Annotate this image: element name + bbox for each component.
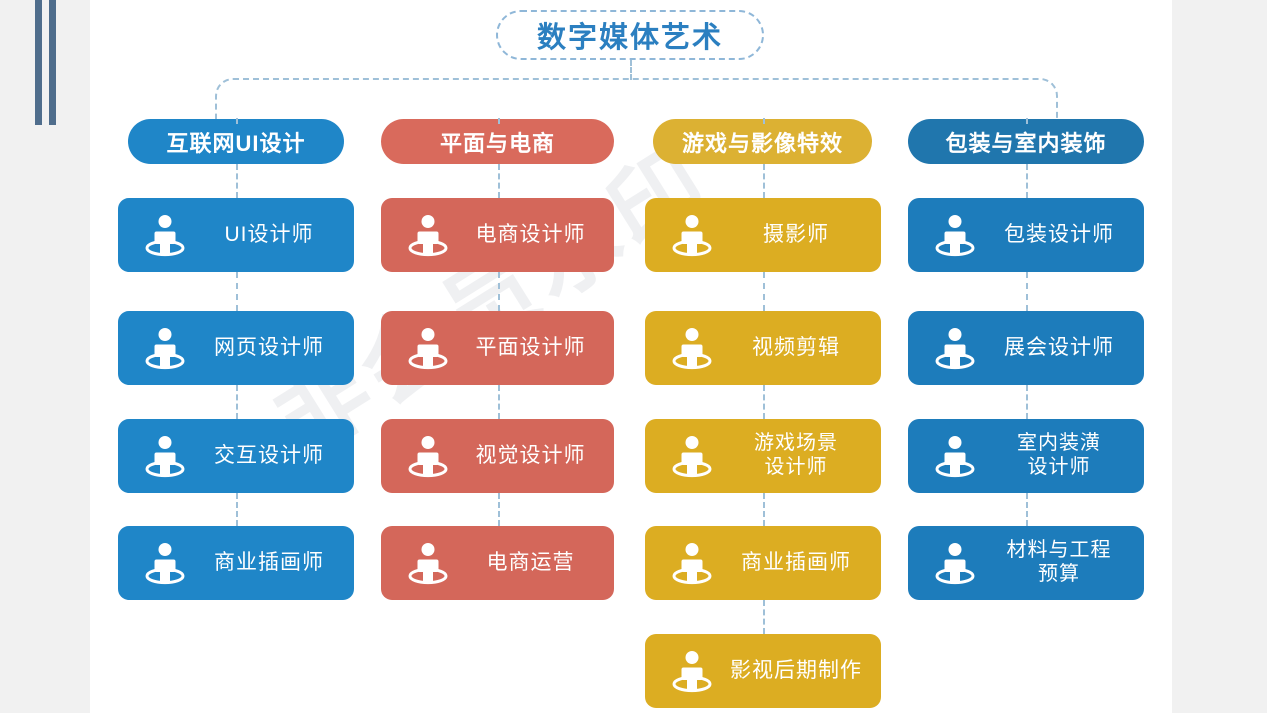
person-in-circle-icon (669, 432, 715, 480)
node-card[interactable]: 摄影师 (645, 198, 881, 272)
column-header-game-and-video-fx[interactable]: 游戏与影像特效 (653, 119, 872, 164)
node-card-label: 游戏场景 设计师 (723, 432, 881, 479)
node-card[interactable]: 包装设计师 (908, 198, 1144, 272)
person-in-circle-icon (142, 432, 188, 480)
person-in-circle-icon (669, 647, 715, 695)
root-node[interactable]: 数字媒体艺术 (496, 10, 764, 60)
person-in-circle-icon (932, 324, 978, 372)
node-card[interactable]: UI设计师 (118, 198, 354, 272)
node-card[interactable]: 电商设计师 (381, 198, 614, 272)
node-card-label: 交互设计师 (196, 444, 354, 469)
person-in-circle-icon (932, 211, 978, 259)
node-card[interactable]: 交互设计师 (118, 419, 354, 493)
node-card-label: 影视后期制作 (723, 659, 881, 684)
accent-bar-2 (49, 0, 56, 125)
person-in-circle-icon (669, 211, 715, 259)
node-card-label: 商业插画师 (723, 551, 881, 576)
node-card-label: 电商运营 (459, 551, 614, 576)
person-in-circle-icon (405, 211, 451, 259)
person-in-circle-icon (932, 539, 978, 587)
person-in-circle-icon (669, 539, 715, 587)
node-card-label: 展会设计师 (986, 336, 1144, 361)
node-card-label: 视觉设计师 (459, 444, 614, 469)
node-card-label: 视频剪辑 (723, 336, 881, 361)
node-card[interactable]: 平面设计师 (381, 311, 614, 385)
node-card[interactable]: 电商运营 (381, 526, 614, 600)
column-header-label: 游戏与影像特效 (682, 126, 843, 158)
accent-bar-1 (35, 0, 42, 125)
column-header-label: 互联网UI设计 (166, 126, 305, 158)
node-card[interactable]: 网页设计师 (118, 311, 354, 385)
person-in-circle-icon (669, 324, 715, 372)
node-card[interactable]: 影视后期制作 (645, 634, 881, 708)
person-in-circle-icon (932, 432, 978, 480)
person-in-circle-icon (142, 324, 188, 372)
node-card-label: 摄影师 (723, 223, 881, 248)
node-card-label: 平面设计师 (459, 336, 614, 361)
node-card-label: 材料与工程 预算 (986, 539, 1144, 586)
column-header-label: 平面与电商 (440, 126, 555, 158)
column-header-graphic-and-ecommerce[interactable]: 平面与电商 (381, 119, 614, 164)
node-card[interactable]: 视频剪辑 (645, 311, 881, 385)
node-card-label: 包装设计师 (986, 223, 1144, 248)
person-in-circle-icon (405, 539, 451, 587)
node-card-label: 电商设计师 (459, 223, 614, 248)
left-accent-bars (35, 0, 57, 125)
column-header-internet-ui-design[interactable]: 互联网UI设计 (128, 119, 344, 164)
node-card-label: 室内装潢 设计师 (986, 432, 1144, 479)
person-in-circle-icon (142, 539, 188, 587)
node-card-label: 商业插画师 (196, 551, 354, 576)
connector-bus (215, 78, 1058, 120)
node-card-label: UI设计师 (196, 223, 354, 248)
slide-canvas: 非会员水印 数字媒体艺术 互联网UI设计UI设计师网页设计师交互设计师商业插画师… (0, 0, 1267, 713)
node-card[interactable]: 商业插画师 (118, 526, 354, 600)
person-in-circle-icon (405, 432, 451, 480)
node-card[interactable]: 商业插画师 (645, 526, 881, 600)
node-card[interactable]: 游戏场景 设计师 (645, 419, 881, 493)
node-card[interactable]: 视觉设计师 (381, 419, 614, 493)
node-card[interactable]: 材料与工程 预算 (908, 526, 1144, 600)
person-in-circle-icon (405, 324, 451, 372)
node-card[interactable]: 室内装潢 设计师 (908, 419, 1144, 493)
column-header-label: 包装与室内装饰 (945, 126, 1106, 158)
column-header-packaging-and-interior[interactable]: 包装与室内装饰 (908, 119, 1144, 164)
person-in-circle-icon (142, 211, 188, 259)
node-card-label: 网页设计师 (196, 336, 354, 361)
root-node-label: 数字媒体艺术 (537, 14, 723, 56)
node-card[interactable]: 展会设计师 (908, 311, 1144, 385)
